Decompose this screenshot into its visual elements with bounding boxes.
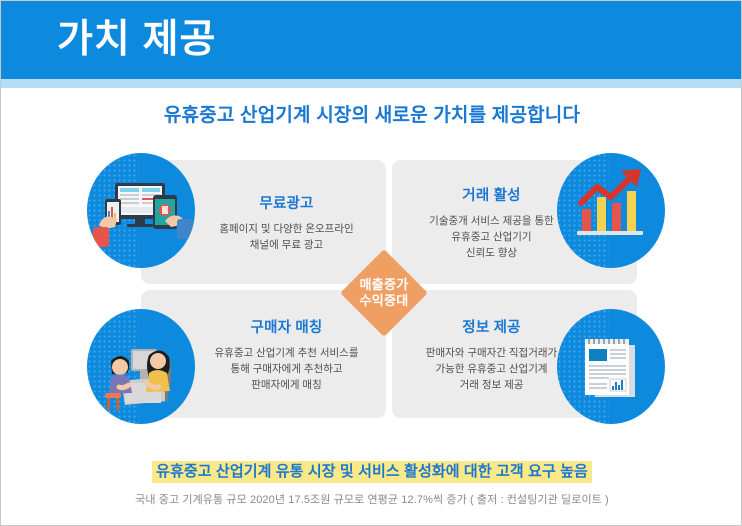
card-body: 유휴중고 산업기계 추천 서비스를 통해 구매자에게 추천하고 판매자에게 매칭: [215, 345, 359, 393]
card-body-line: 채널에 무료 광고: [219, 237, 353, 253]
card-body: 판매자와 구매자간 직접거래가 가능한 유휴중고 산업기계 거래 정보 제공: [426, 345, 557, 393]
page-title: 가치 제공: [57, 14, 216, 66]
footer-note: 국내 중고 기계유통 규모 2020년 17.5조원 규모로 연평균 12.7%…: [1, 491, 742, 507]
center-badge: 매출증가 수익증대: [340, 249, 428, 337]
devices-online-ad-icon: [87, 153, 195, 268]
card-body: 홈페이지 및 다양한 온오프라인 채널에 무료 광고: [219, 221, 353, 253]
card-title: 구매자 매칭: [251, 316, 323, 337]
subtitle: 유휴중고 산업기계 시장의 새로운 가치를 제공합니다: [1, 100, 742, 127]
center-badge-text: 매출증가 수익증대: [340, 249, 428, 337]
card-body-line: 홈페이지 및 다양한 온오프라인: [219, 221, 353, 237]
card-body-line: 기술중개 서비스 제공을 통한: [429, 213, 554, 229]
card-body: 기술중개 서비스 제공을 통한 유휴중고 산업기기 신뢰도 향상: [429, 213, 554, 261]
two-people-consulting-icon: [87, 309, 195, 424]
card-body-line: 거래 정보 제공: [426, 377, 557, 393]
slide-canvas: 가치 제공 유휴중고 산업기계 시장의 새로운 가치를 제공합니다 무료광고 홈…: [0, 0, 742, 526]
card-title: 정보 제공: [462, 316, 520, 337]
card-title: 거래 활성: [462, 184, 520, 205]
footer-highlight-text: 유휴중고 산업기계 유통 시장 및 서비스 활성화에 대한 고객 요구 높음: [152, 461, 592, 483]
center-badge-line1: 매출증가: [359, 277, 408, 293]
growth-bar-chart-icon: [557, 153, 665, 268]
footer-highlight: 유휴중고 산업기계 유통 시장 및 서비스 활성화에 대한 고객 요구 높음: [1, 460, 742, 481]
header-underband: [1, 79, 742, 88]
card-body-line: 판매자에게 매칭: [215, 377, 359, 393]
card-body-line: 가능한 유휴중고 산업기계: [426, 361, 557, 377]
card-body-line: 유휴중고 산업기기: [429, 229, 554, 245]
card-body-line: 판매자와 구매자간 직접거래가: [426, 345, 557, 361]
card-body-line: 신뢰도 향상: [429, 245, 554, 261]
center-badge-line2: 수익증대: [359, 293, 408, 309]
newspaper-report-icon: [557, 309, 665, 424]
card-body-line: 통해 구매자에게 추천하고: [215, 361, 359, 377]
card-body-line: 유휴중고 산업기계 추천 서비스를: [215, 345, 359, 361]
card-title: 무료광고: [259, 192, 313, 213]
